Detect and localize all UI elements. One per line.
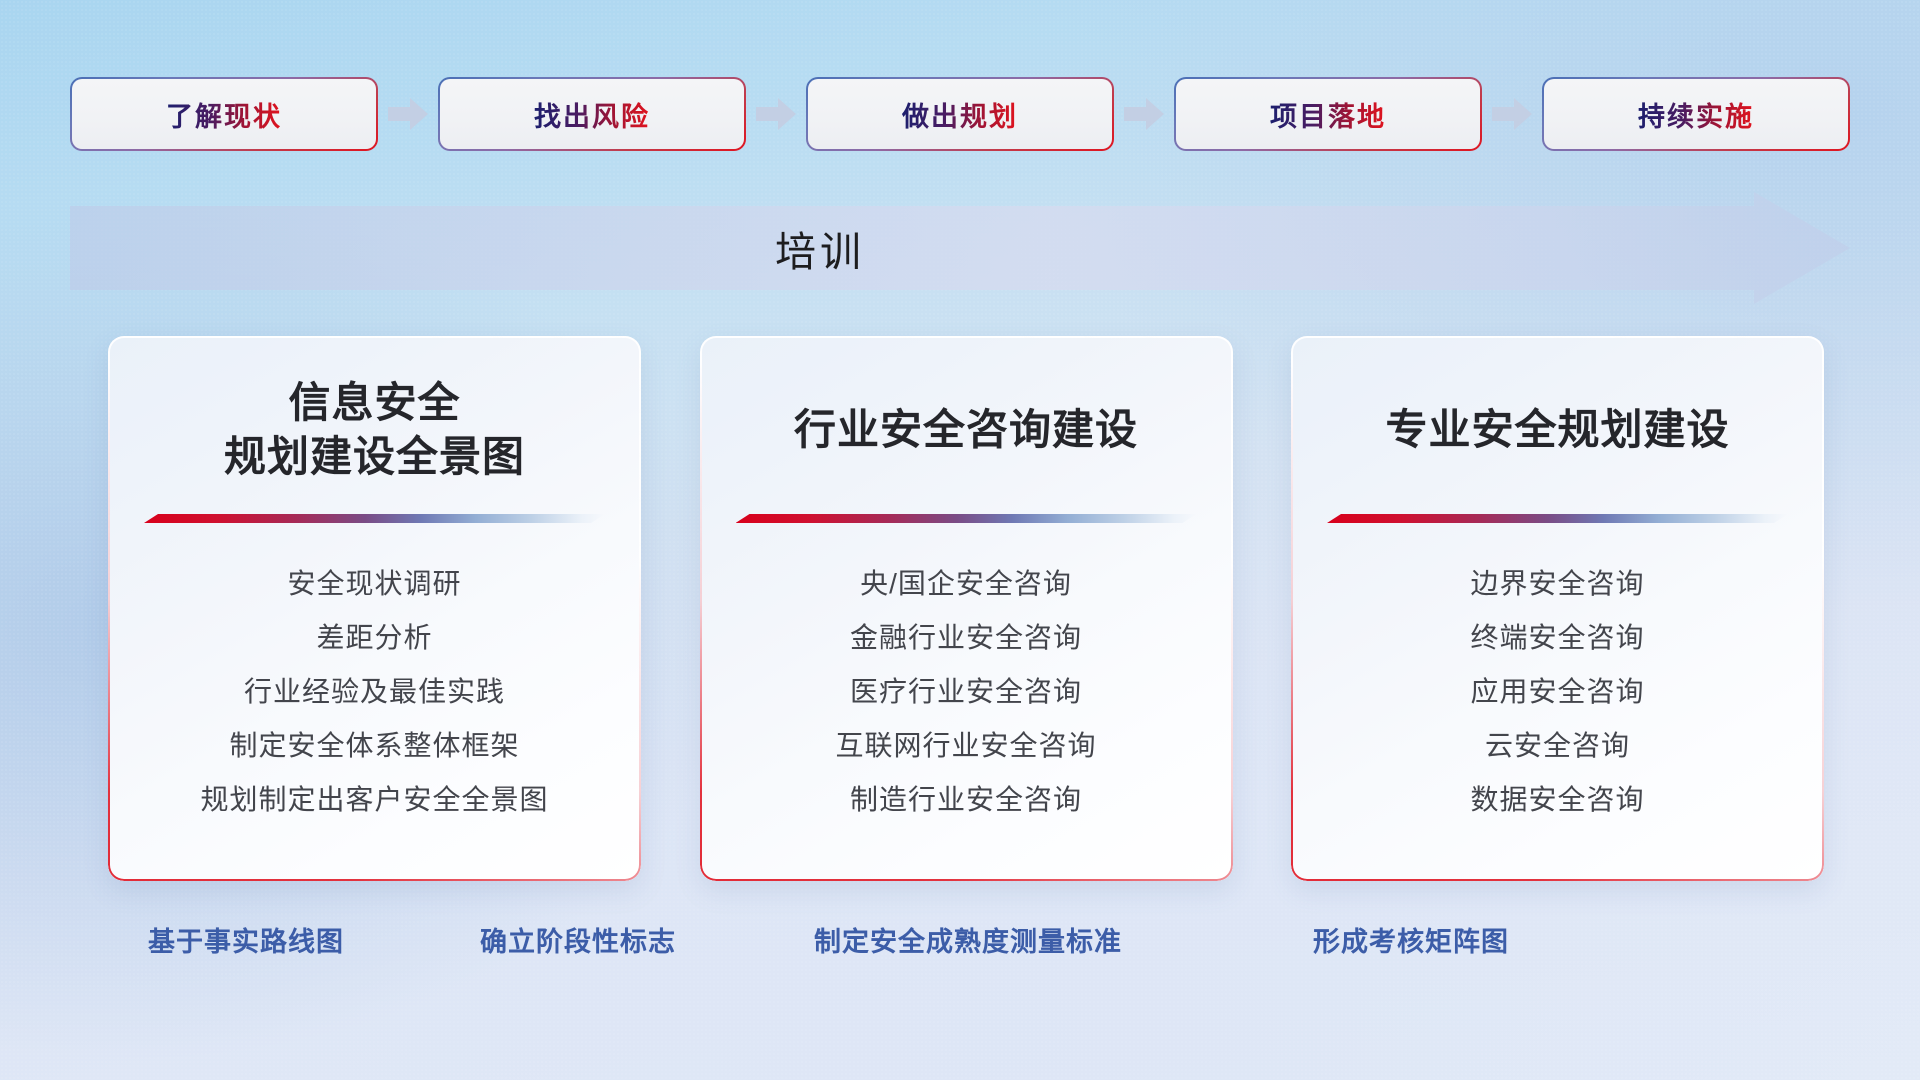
card-1-title-line2: 规划建设全景图 [136, 430, 613, 484]
card-1-title: 信息安全 规划建设全景图 [136, 374, 613, 486]
list-item: 终端安全咨询 [1319, 611, 1796, 665]
step-box-3[interactable]: 做出规划 [808, 79, 1112, 149]
bottom-label-4: 形成考核矩阵图 [1313, 920, 1509, 959]
card-3-title: 专业安全规划建设 [1319, 374, 1796, 486]
card-2-list: 央/国企安全咨询 金融行业安全咨询 医疗行业安全咨询 互联网行业安全咨询 制造行… [728, 557, 1205, 827]
list-item: 边界安全咨询 [1319, 557, 1796, 611]
list-item: 金融行业安全咨询 [728, 611, 1205, 665]
banner-title: 培训 [70, 192, 1570, 304]
card-2-divider [736, 514, 1197, 523]
slide-canvas: 了解现状 找出风险 做出规划 项目落地 [0, 0, 1920, 1080]
bottom-label-1: 基于事实路线图 [148, 920, 344, 959]
card-1[interactable]: 信息安全 规划建设全景图 安全现状调研 差距分析 行业经验及最佳实践 制定安全体… [108, 336, 641, 881]
card-row: 信息安全 规划建设全景图 安全现状调研 差距分析 行业经验及最佳实践 制定安全体… [108, 336, 1824, 881]
step-box-1[interactable]: 了解现状 [72, 79, 376, 149]
arrow-right-icon [1122, 93, 1166, 135]
list-item: 应用安全咨询 [1319, 665, 1796, 719]
step-box-5[interactable]: 持续实施 [1544, 79, 1848, 149]
step-label-3: 做出规划 [902, 95, 1018, 134]
list-item: 互联网行业安全咨询 [728, 719, 1205, 773]
list-item: 规划制定出客户安全全景图 [136, 773, 613, 827]
card-2-title: 行业安全咨询建设 [728, 374, 1205, 486]
card-3-divider [1327, 514, 1788, 523]
card-3-list: 边界安全咨询 终端安全咨询 应用安全咨询 云安全咨询 数据安全咨询 [1319, 557, 1796, 827]
process-step-row: 了解现状 找出风险 做出规划 项目落地 [72, 78, 1848, 150]
step-label-1: 了解现状 [166, 95, 282, 134]
card-3-title-line1: 专业安全规划建设 [1319, 403, 1796, 457]
list-item: 差距分析 [136, 611, 613, 665]
step-label-2: 找出风险 [534, 95, 650, 134]
bottom-label-row: 基于事实路线图 确立阶段性标志 制定安全成熟度测量标准 形成考核矩阵图 [0, 920, 1920, 970]
arrow-right-icon [754, 93, 798, 135]
list-item: 制造行业安全咨询 [728, 773, 1205, 827]
step-box-2[interactable]: 找出风险 [440, 79, 744, 149]
arrow-right-icon [386, 93, 430, 135]
step-label-5: 持续实施 [1638, 95, 1754, 134]
card-2-title-line1: 行业安全咨询建设 [728, 403, 1205, 457]
bottom-label-3: 制定安全成熟度测量标准 [814, 920, 1122, 959]
bottom-label-2: 确立阶段性标志 [480, 920, 676, 959]
card-1-title-line1: 信息安全 [136, 376, 613, 430]
card-2[interactable]: 行业安全咨询建设 央/国企安全咨询 金融行业安全咨询 医疗行业安全咨询 互联网行… [700, 336, 1233, 881]
list-item: 医疗行业安全咨询 [728, 665, 1205, 719]
card-1-divider [144, 514, 605, 523]
list-item: 央/国企安全咨询 [728, 557, 1205, 611]
card-1-list: 安全现状调研 差距分析 行业经验及最佳实践 制定安全体系整体框架 规划制定出客户… [136, 557, 613, 827]
list-item: 制定安全体系整体框架 [136, 719, 613, 773]
list-item: 安全现状调研 [136, 557, 613, 611]
list-item: 数据安全咨询 [1319, 773, 1796, 827]
card-3[interactable]: 专业安全规划建设 边界安全咨询 终端安全咨询 应用安全咨询 云安全咨询 数据安全… [1291, 336, 1824, 881]
list-item: 行业经验及最佳实践 [136, 665, 613, 719]
arrow-right-icon [1490, 93, 1534, 135]
step-label-4: 项目落地 [1270, 95, 1386, 134]
list-item: 云安全咨询 [1319, 719, 1796, 773]
step-box-4[interactable]: 项目落地 [1176, 79, 1480, 149]
training-banner: 培训 [70, 192, 1850, 304]
